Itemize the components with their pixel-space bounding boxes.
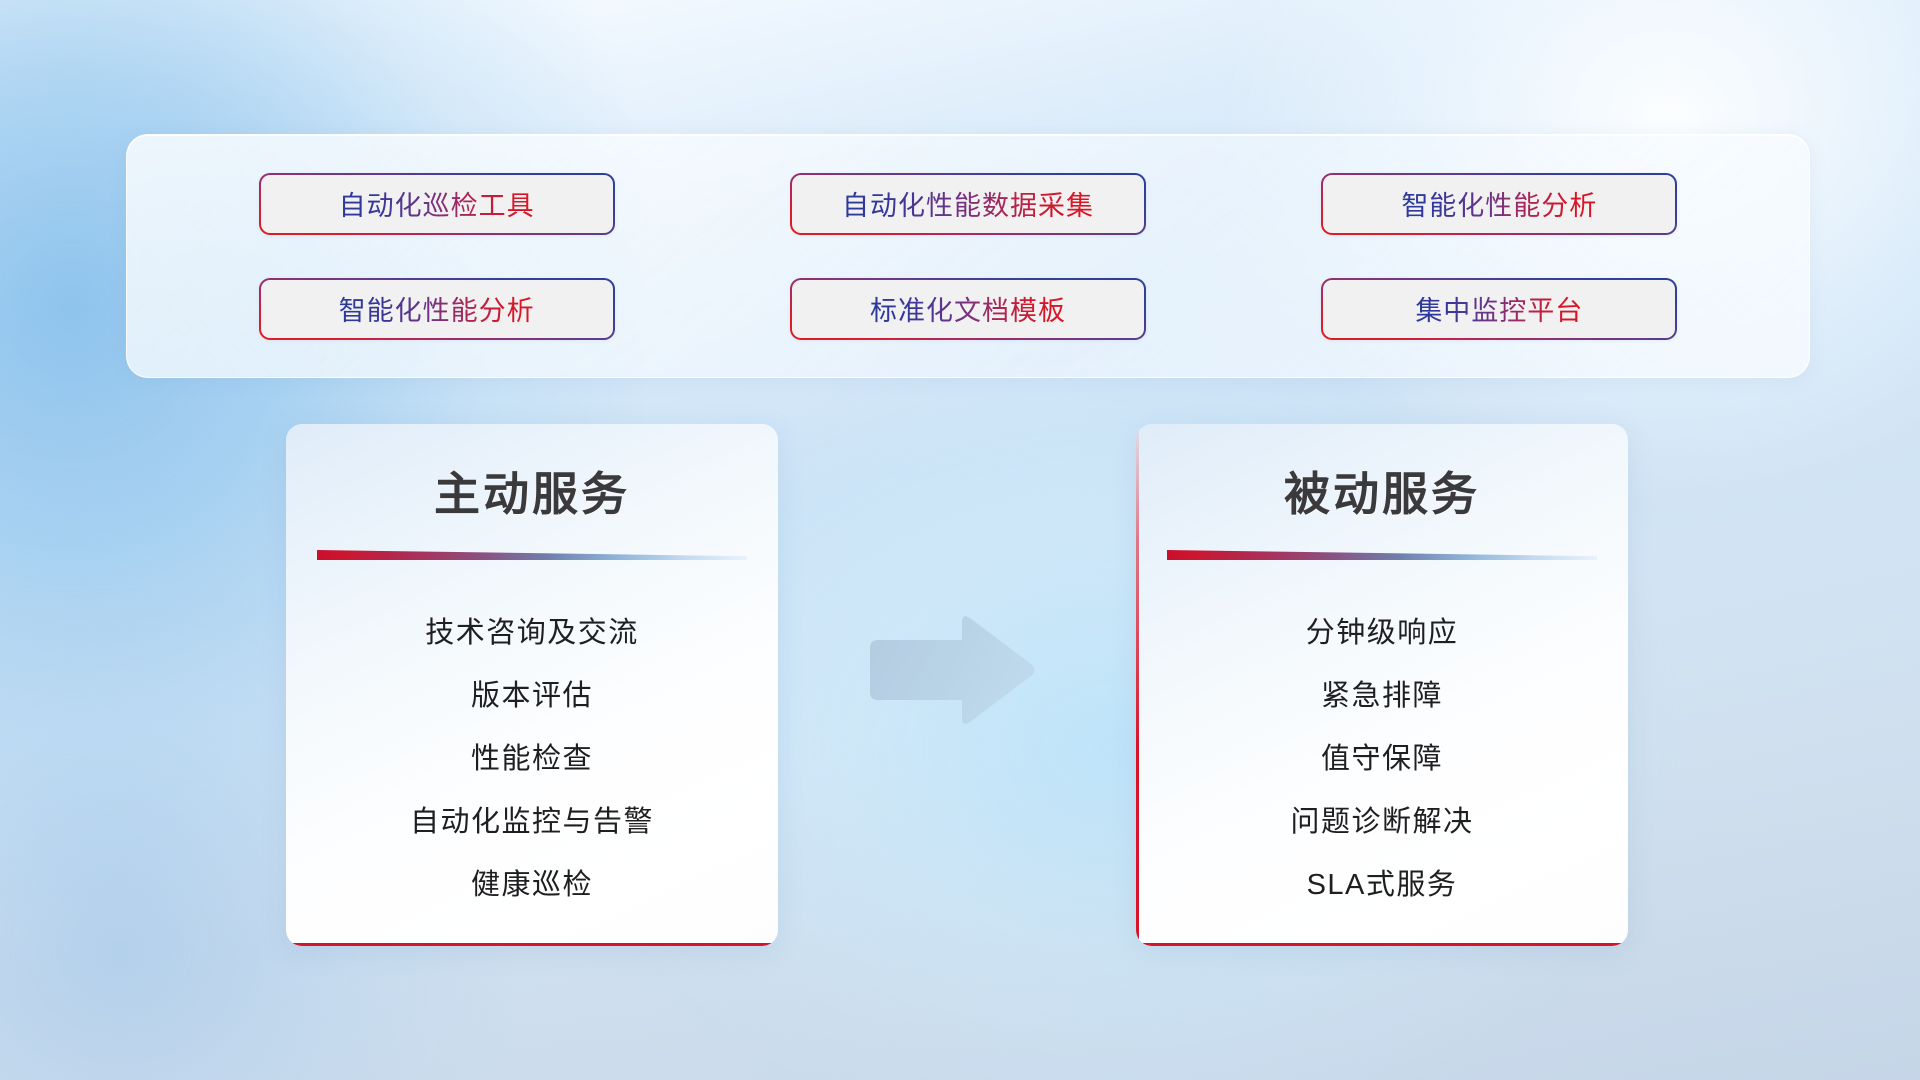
service-item-list: 分钟级响应 紧急排障 值守保障 问题诊断解决 SLA式服务: [1136, 602, 1628, 917]
list-item: 紧急排障: [1321, 665, 1443, 728]
capability-button-label: 集中监控平台: [1415, 289, 1583, 328]
service-card-title: 被动服务: [1136, 458, 1628, 524]
service-item-list: 技术咨询及交流 版本评估 性能检查 自动化监控与告警 健康巡检: [286, 602, 778, 917]
capability-button-label: 标准化文档模板: [870, 289, 1066, 328]
list-item: 值守保障: [1321, 728, 1443, 791]
capability-button-label: 智能化性能分析: [339, 289, 535, 328]
capability-button-intelligent-performance-analysis-a[interactable]: 智能化性能分析: [1321, 173, 1677, 235]
title-divider: [317, 550, 747, 560]
capability-button-intelligent-performance-analysis-b[interactable]: 智能化性能分析: [259, 278, 615, 340]
capability-button-automation-performance-data-collection[interactable]: 自动化性能数据采集: [790, 173, 1146, 235]
list-item: 自动化监控与告警: [410, 791, 654, 854]
capability-button-label: 自动化性能数据采集: [842, 184, 1094, 223]
capabilities-panel: 自动化巡检工具 自动化性能数据采集 智能化性能分析 智能化性能分析 标准化文档模…: [126, 134, 1810, 378]
capability-button-automation-inspection-tool[interactable]: 自动化巡检工具: [259, 173, 615, 235]
list-item: 性能检查: [471, 728, 593, 791]
service-card-reactive: 被动服务 分钟级响应 紧急排障 值守保障 问题诊断解决 SLA式服务: [1136, 424, 1628, 946]
list-item: 问题诊断解决: [1290, 791, 1473, 854]
capability-button-label: 自动化巡检工具: [339, 184, 535, 223]
capability-button-standardized-document-template[interactable]: 标准化文档模板: [790, 278, 1146, 340]
title-divider-gradient: [317, 550, 747, 560]
arrow-right-icon: [866, 612, 1038, 732]
capability-button-label: 智能化性能分析: [1401, 184, 1597, 223]
title-divider: [1167, 550, 1597, 560]
list-item: 健康巡检: [471, 854, 593, 917]
list-item: 版本评估: [471, 665, 593, 728]
list-item: 分钟级响应: [1306, 602, 1459, 665]
title-divider-gradient: [1167, 550, 1597, 560]
list-item: 技术咨询及交流: [425, 602, 639, 665]
service-card-proactive: 主动服务 技术咨询及交流 版本评估 性能检查 自动化监控与告警 健康巡检: [286, 424, 778, 946]
list-item: SLA式服务: [1307, 854, 1458, 917]
capability-button-centralized-monitoring-platform[interactable]: 集中监控平台: [1321, 278, 1677, 340]
service-card-title: 主动服务: [286, 458, 778, 524]
